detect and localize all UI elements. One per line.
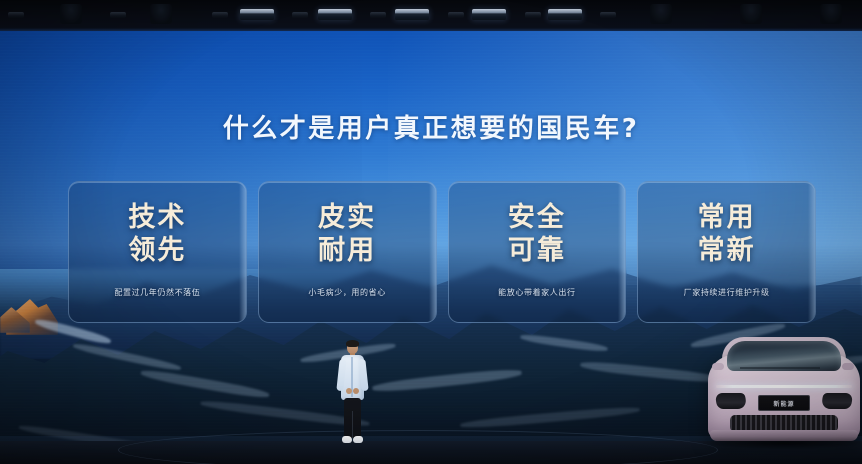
presenter-leg-seam	[352, 411, 353, 438]
presenter-right-hand	[353, 388, 359, 394]
car-right-mirror	[842, 363, 854, 370]
card-title: 常用 常新	[698, 202, 756, 268]
stage-light-icon	[525, 12, 541, 18]
card-title-line2: 领先	[128, 235, 186, 268]
car-led-light-bar	[716, 385, 852, 388]
car-front-bumper	[710, 430, 858, 441]
stage-light-icon	[395, 9, 429, 20]
truss-fixture-icon	[820, 4, 842, 24]
stage-light-icon	[448, 12, 464, 18]
presenter-left-hand	[346, 388, 352, 394]
stage-light-icon	[548, 9, 582, 20]
card-title-line1: 安全	[508, 202, 566, 235]
card-title: 技术 领先	[128, 202, 186, 268]
truss-fixture-icon	[60, 4, 82, 24]
feature-card-updates[interactable]: 常用 常新 厂家持续进行维护升级	[637, 181, 816, 323]
card-subtitle: 配置过几年仍然不落伍	[69, 287, 246, 298]
feature-card-tech[interactable]: 技术 领先 配置过几年仍然不落伍	[68, 181, 247, 323]
card-subtitle: 厂家持续进行维护升级	[638, 287, 815, 298]
card-edge-glow	[429, 182, 436, 322]
card-title-line1: 常用	[698, 202, 756, 235]
stage-light-icon	[600, 12, 616, 18]
card-subtitle: 小毛病少，用的省心	[259, 287, 436, 298]
card-title-line2: 耐用	[318, 235, 376, 268]
feature-card-durable[interactable]: 皮实 耐用 小毛病少，用的省心	[258, 181, 437, 323]
presenter-hair	[346, 340, 359, 347]
presenter	[334, 341, 370, 446]
floor-circle-marking	[118, 430, 718, 464]
card-title-line1: 皮实	[318, 202, 376, 235]
feature-card-safety[interactable]: 安全 可靠 能放心带着家人出行	[448, 181, 627, 323]
slide-headline: 什么才是用户真正想要的国民车?	[0, 108, 862, 145]
card-title: 安全 可靠	[508, 202, 566, 268]
car-left-mirror	[712, 363, 724, 370]
stage-light-icon	[472, 9, 506, 20]
card-edge-glow	[239, 182, 246, 322]
card-title: 皮实 耐用	[318, 202, 376, 268]
stage-scene: 什么才是用户真正想要的国民车? 技术 领先 配置过几年仍然不落伍 皮实 耐用 小…	[0, 0, 862, 464]
car-right-headlight	[821, 393, 854, 409]
card-title-line2: 可靠	[508, 235, 566, 268]
stage-light-icon	[292, 12, 308, 18]
stage-light-icon	[318, 9, 352, 20]
card-subtitle: 能放心带着家人出行	[449, 287, 626, 298]
stage-light-icon	[8, 12, 24, 18]
car-left-headlight	[715, 393, 748, 409]
truss-fixture-icon	[650, 4, 672, 24]
card-title-line1: 技术	[128, 202, 186, 235]
feature-card-row: 技术 领先 配置过几年仍然不落伍 皮实 耐用 小毛病少，用的省心 安全 可靠 能…	[68, 181, 816, 323]
showcase-car: 新能源	[700, 333, 862, 451]
stage-light-icon	[212, 12, 228, 18]
car-license-plate-text: 新能源	[773, 399, 794, 408]
car-wiper	[740, 367, 820, 369]
card-title-line2: 常新	[698, 235, 756, 268]
truss-fixture-icon	[740, 4, 762, 24]
stage-light-icon	[240, 9, 274, 20]
card-edge-glow	[618, 182, 625, 322]
card-edge-glow	[808, 182, 815, 322]
car-license-plate: 新能源	[758, 395, 810, 411]
stage-light-icon	[370, 12, 386, 18]
presenter-left-shoe	[342, 436, 352, 443]
truss-fixture-icon	[150, 4, 172, 24]
presenter-right-shoe	[353, 436, 363, 443]
ceiling-truss	[0, 0, 862, 31]
stage-light-icon	[110, 12, 126, 18]
